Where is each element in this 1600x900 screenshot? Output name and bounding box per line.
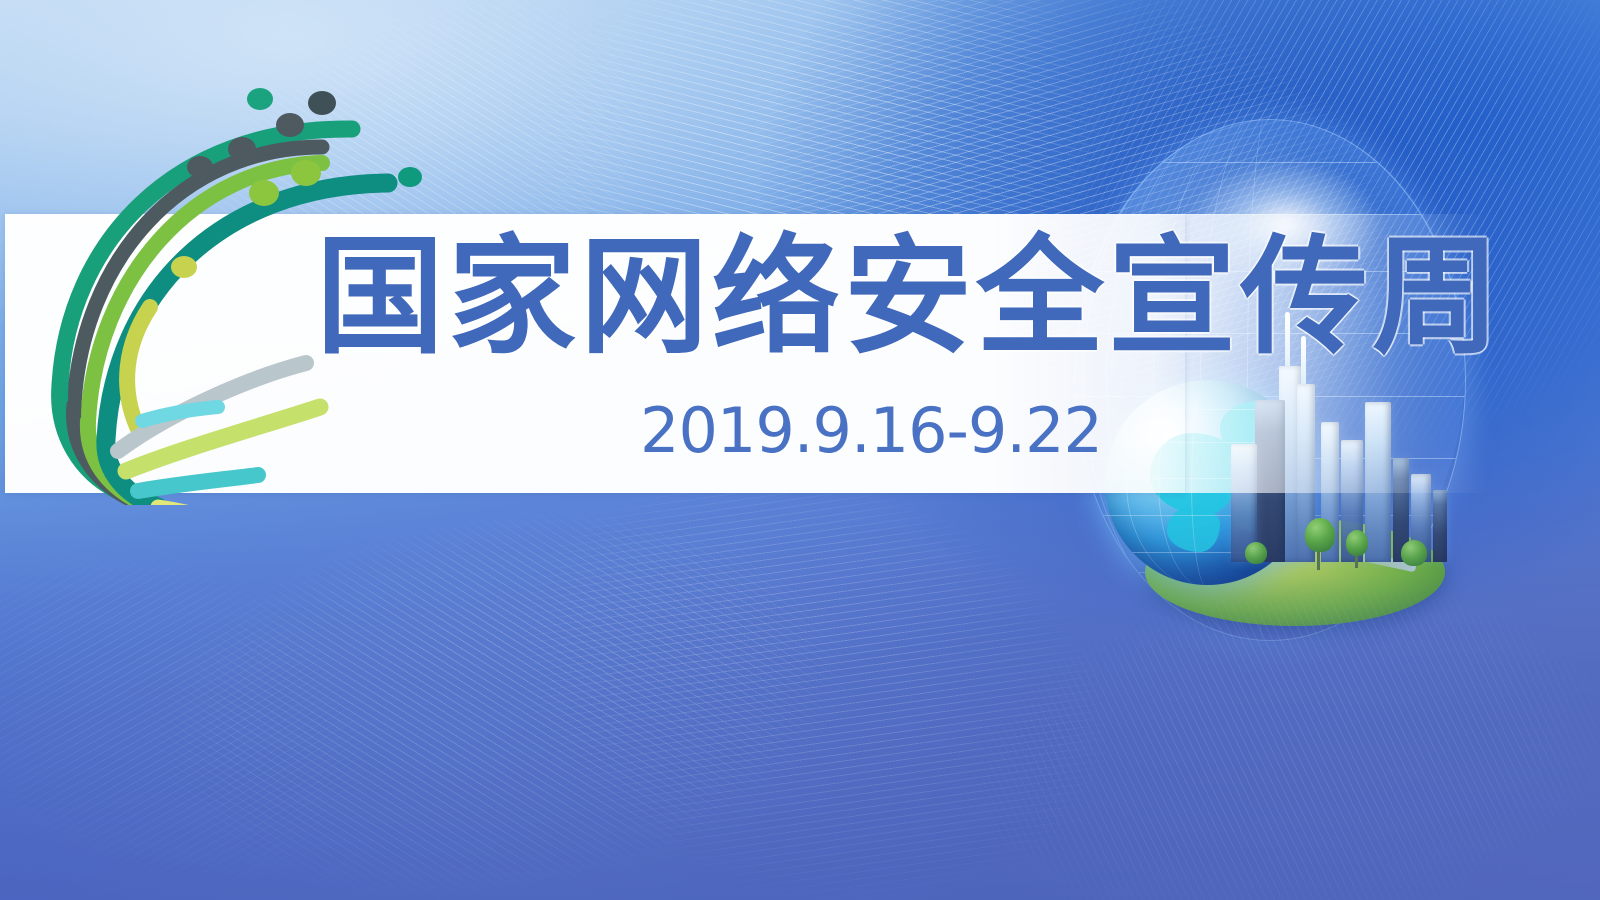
- poster-canvas: 国家网络安全宣传周 2019.9.16-9.22: [0, 0, 1600, 900]
- date-range: 2019.9.16-9.22: [640, 398, 1102, 464]
- background-bottom-shade: [0, 440, 1600, 900]
- page-title: 国家网络安全宣传周: [316, 232, 1436, 364]
